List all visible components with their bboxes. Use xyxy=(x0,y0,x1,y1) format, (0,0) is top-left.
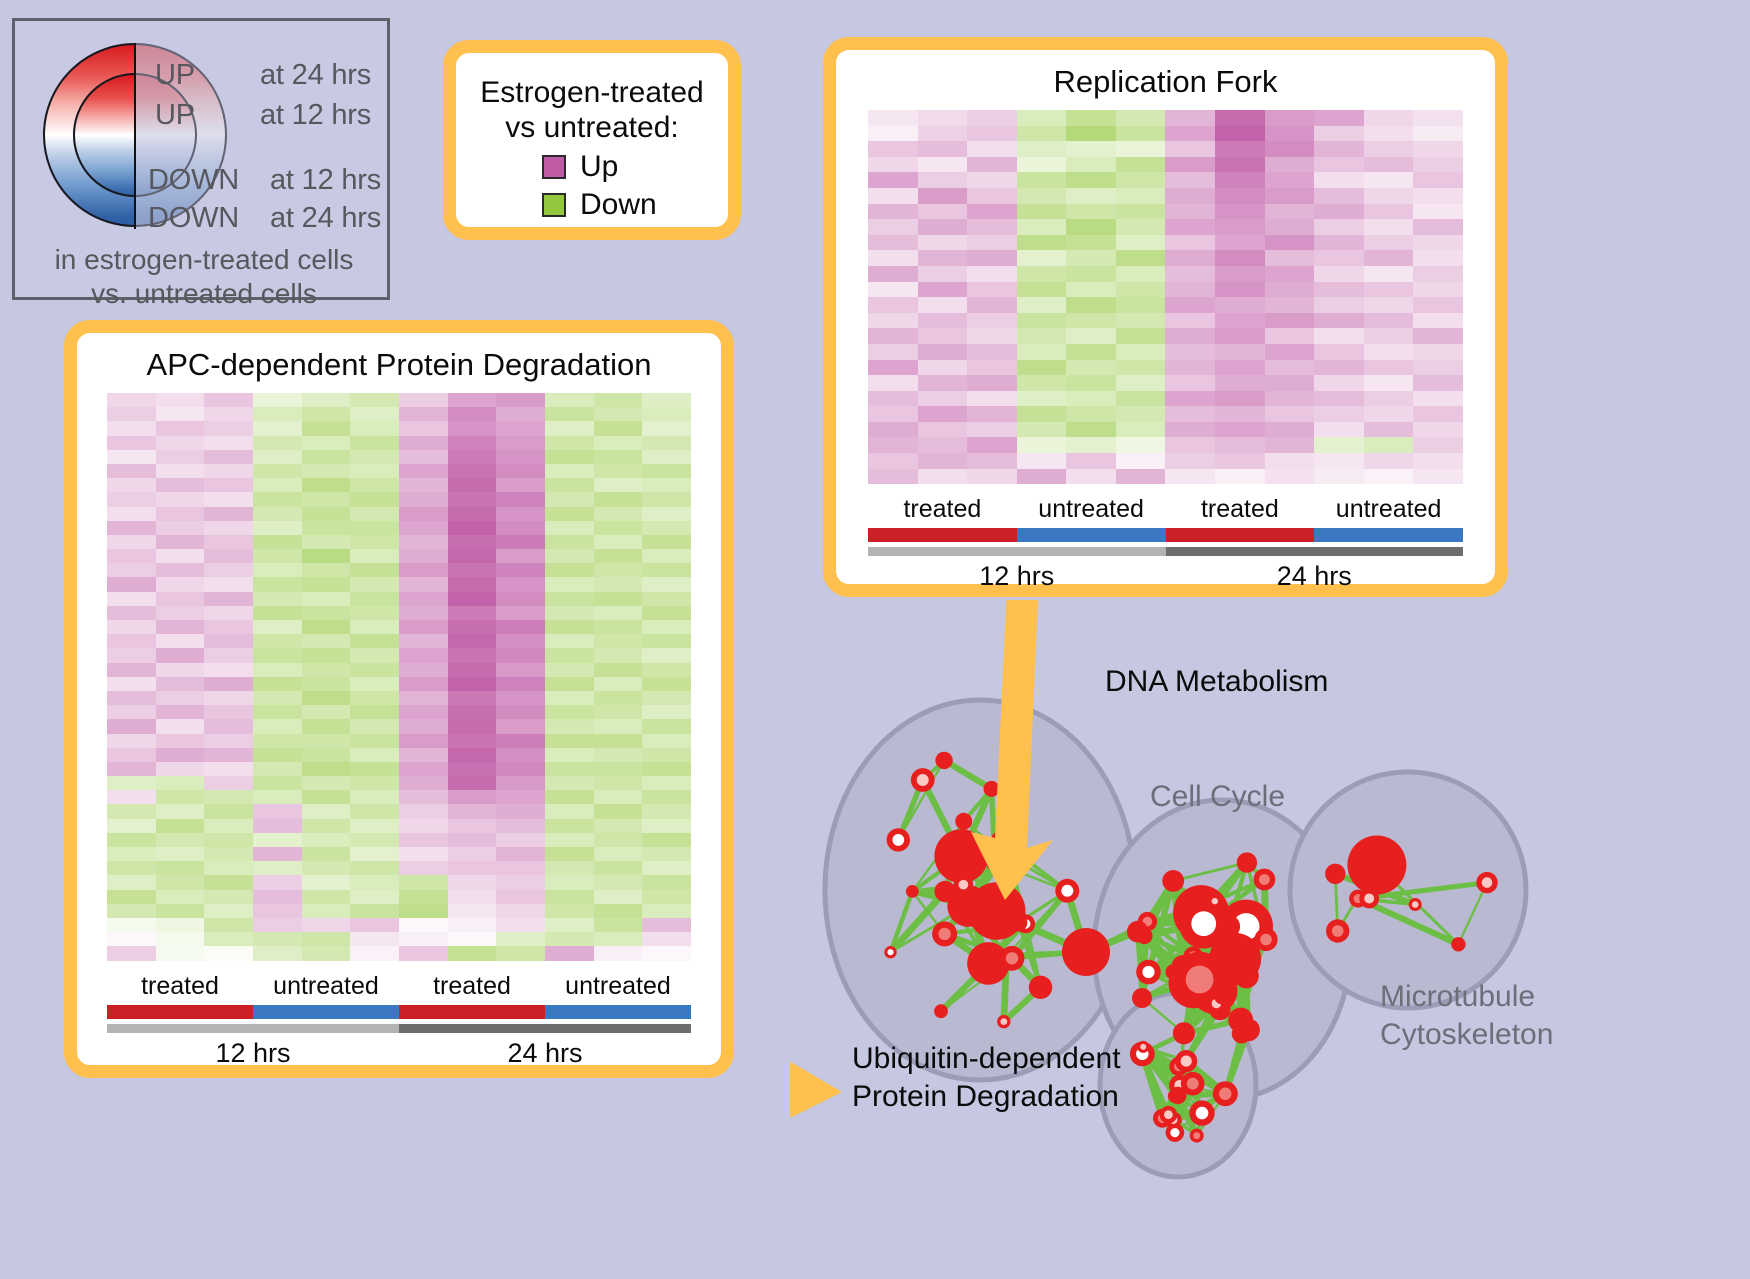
colormap-time-down-12: at 12 hrs xyxy=(270,164,381,197)
apc-group-label-untreated-24: untreated xyxy=(545,972,691,1001)
group-label-untreated-12: untreated xyxy=(1017,495,1166,524)
colormap-legend-box: UP at 24 hrs UP at 12 hrs DOWN at 12 hrs… xyxy=(12,18,390,300)
apc-time-bar-12hrs xyxy=(107,1024,399,1033)
heatmap-apc xyxy=(107,393,691,961)
updown-legend-title-line2: vs untreated: xyxy=(456,110,728,145)
group-label-treated-12: treated xyxy=(868,495,1017,524)
apc-bar-treated-24 xyxy=(399,1005,545,1019)
updown-legend-title-line1: Estrogen-treated xyxy=(456,75,728,110)
cluster-label-ubiquitin: Ubiquitin-dependent Protein Degradation xyxy=(852,1040,1121,1115)
time-bar-24hrs xyxy=(1166,547,1464,556)
time-label-12hrs: 12 hrs xyxy=(868,561,1166,592)
bar-untreated-12 xyxy=(1017,528,1166,542)
apc-time-label-24hrs: 24 hrs xyxy=(399,1038,691,1069)
apc-bar-untreated-12 xyxy=(253,1005,399,1019)
arrow-to-ubiquitin xyxy=(790,988,842,1122)
group-label-treated-24: treated xyxy=(1166,495,1315,524)
colormap-label-down-12: DOWN xyxy=(148,164,239,197)
cluster-label-microtubule-line1: Microtubule xyxy=(1380,978,1553,1016)
group-labels-apc: treated untreated treated untreated xyxy=(107,972,691,1001)
panel-title-apc: APC-dependent Protein Degradation xyxy=(77,347,721,383)
colormap-label-down-24: DOWN xyxy=(148,202,239,235)
legend-item-up: Up xyxy=(542,150,728,184)
colormap-time-up-12: at 12 hrs xyxy=(260,99,371,132)
colormap-time-up-24: at 24 hrs xyxy=(260,59,371,92)
colormap-time-down-24: at 24 hrs xyxy=(270,202,381,235)
down-swatch-icon xyxy=(542,193,566,217)
cluster-label-ubiquitin-line2: Protein Degradation xyxy=(852,1078,1121,1116)
apc-bar-untreated-24 xyxy=(545,1005,691,1019)
ring-divider xyxy=(134,43,136,229)
colormap-caption: in estrogen-treated cells vs. untreated … xyxy=(15,243,393,311)
panel-title-replication: Replication Fork xyxy=(836,64,1495,100)
apc-time-label-12hrs: 12 hrs xyxy=(107,1038,399,1069)
group-label-untreated-24: untreated xyxy=(1314,495,1463,524)
group-color-bar-replication xyxy=(868,528,1463,542)
cluster-label-microtubule-line2: Cytoskeleton xyxy=(1380,1016,1553,1054)
updown-legend-panel: Estrogen-treated vs untreated: Up Down xyxy=(443,40,741,240)
apc-group-label-treated-12: treated xyxy=(107,972,253,1001)
updown-legend-title: Estrogen-treated vs untreated: xyxy=(456,75,728,146)
legend-item-down: Down xyxy=(542,188,728,222)
colormap-label-up-24: UP xyxy=(155,59,195,92)
legend-label-down: Down xyxy=(580,188,657,222)
group-color-bar-apc xyxy=(107,1005,691,1019)
time-labels-apc: 12 hrs 24 hrs xyxy=(107,1038,691,1069)
time-bar-12hrs xyxy=(868,547,1166,556)
colormap-caption-line2: vs. untreated cells xyxy=(15,277,393,311)
cluster-label-microtubule: Microtubule Cytoskeleton xyxy=(1380,978,1553,1053)
cluster-label-dna-metabolism: DNA Metabolism xyxy=(1105,665,1328,699)
time-labels-replication: 12 hrs 24 hrs xyxy=(868,561,1463,592)
apc-time-bar-24hrs xyxy=(399,1024,691,1033)
cluster-label-cell-cycle: Cell Cycle xyxy=(1150,780,1285,814)
group-labels-replication: treated untreated treated untreated xyxy=(868,495,1463,524)
panel-replication-fork: Replication Fork treated untreated treat… xyxy=(823,37,1508,597)
time-color-bar-apc xyxy=(107,1024,691,1033)
time-label-24hrs: 24 hrs xyxy=(1166,561,1464,592)
colormap-caption-line1: in estrogen-treated cells xyxy=(15,243,393,277)
network-diagram xyxy=(790,600,1750,1279)
apc-group-label-treated-24: treated xyxy=(399,972,545,1001)
up-swatch-icon xyxy=(542,155,566,179)
time-color-bar-replication xyxy=(868,547,1463,556)
bar-untreated-24 xyxy=(1314,528,1463,542)
cluster-label-ubiquitin-line1: Ubiquitin-dependent xyxy=(852,1040,1121,1078)
colormap-label-up-12: UP xyxy=(155,99,195,132)
heatmap-replication xyxy=(868,110,1463,484)
bar-treated-24 xyxy=(1166,528,1315,542)
apc-bar-treated-12 xyxy=(107,1005,253,1019)
apc-group-label-untreated-12: untreated xyxy=(253,972,399,1001)
bar-treated-12 xyxy=(868,528,1017,542)
panel-apc-degradation: APC-dependent Protein Degradation treate… xyxy=(64,320,734,1078)
legend-label-up: Up xyxy=(580,150,618,184)
